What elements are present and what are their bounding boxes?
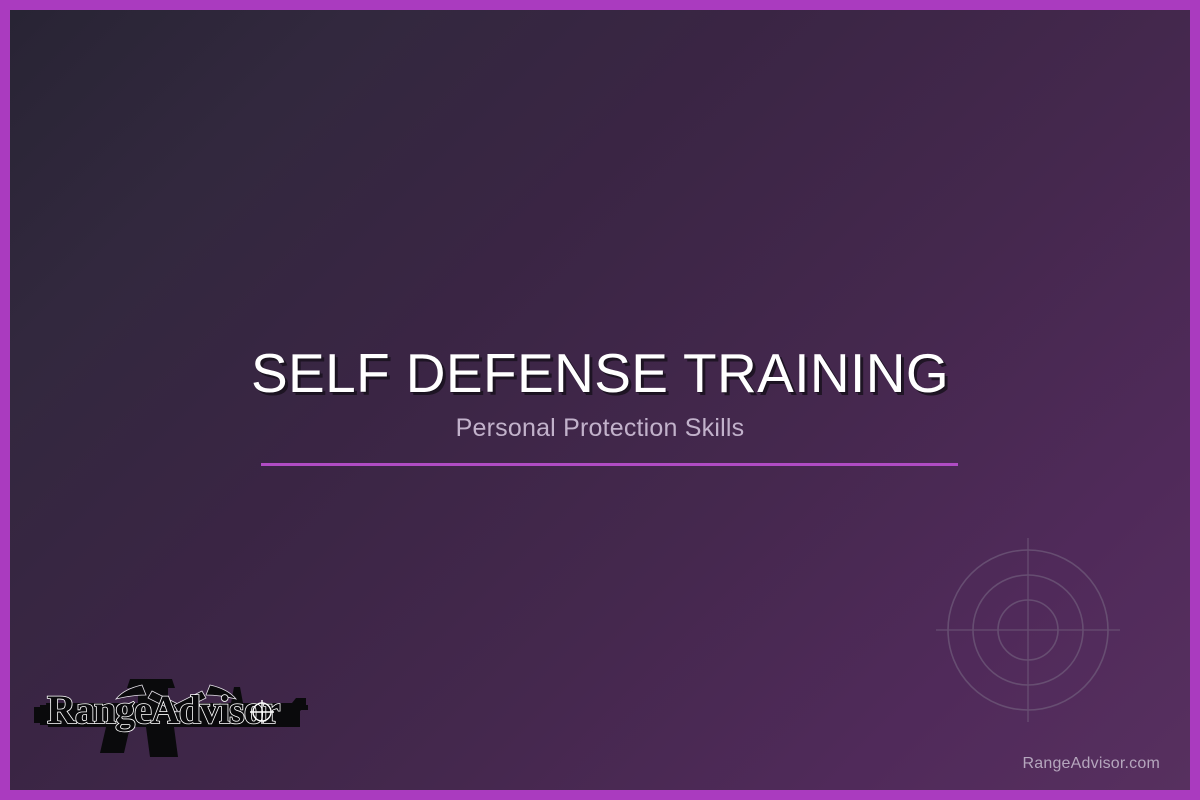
target-reticle-icon: [918, 520, 1138, 740]
presentation-slide: SELF DEFENSE TRAINING Personal Protectio…: [0, 0, 1200, 800]
brand-logo-text: RangeAdvisor: [47, 687, 280, 732]
brand-logo: RangeAdvisor: [34, 665, 316, 760]
title-block: SELF DEFENSE TRAINING Personal Protectio…: [10, 344, 1190, 443]
page-title: SELF DEFENSE TRAINING: [10, 344, 1190, 402]
footer-url: RangeAdvisor.com: [1023, 755, 1161, 773]
slide-canvas: SELF DEFENSE TRAINING Personal Protectio…: [10, 10, 1190, 790]
page-subtitle: Personal Protection Skills: [10, 414, 1190, 443]
title-divider: [261, 463, 958, 466]
